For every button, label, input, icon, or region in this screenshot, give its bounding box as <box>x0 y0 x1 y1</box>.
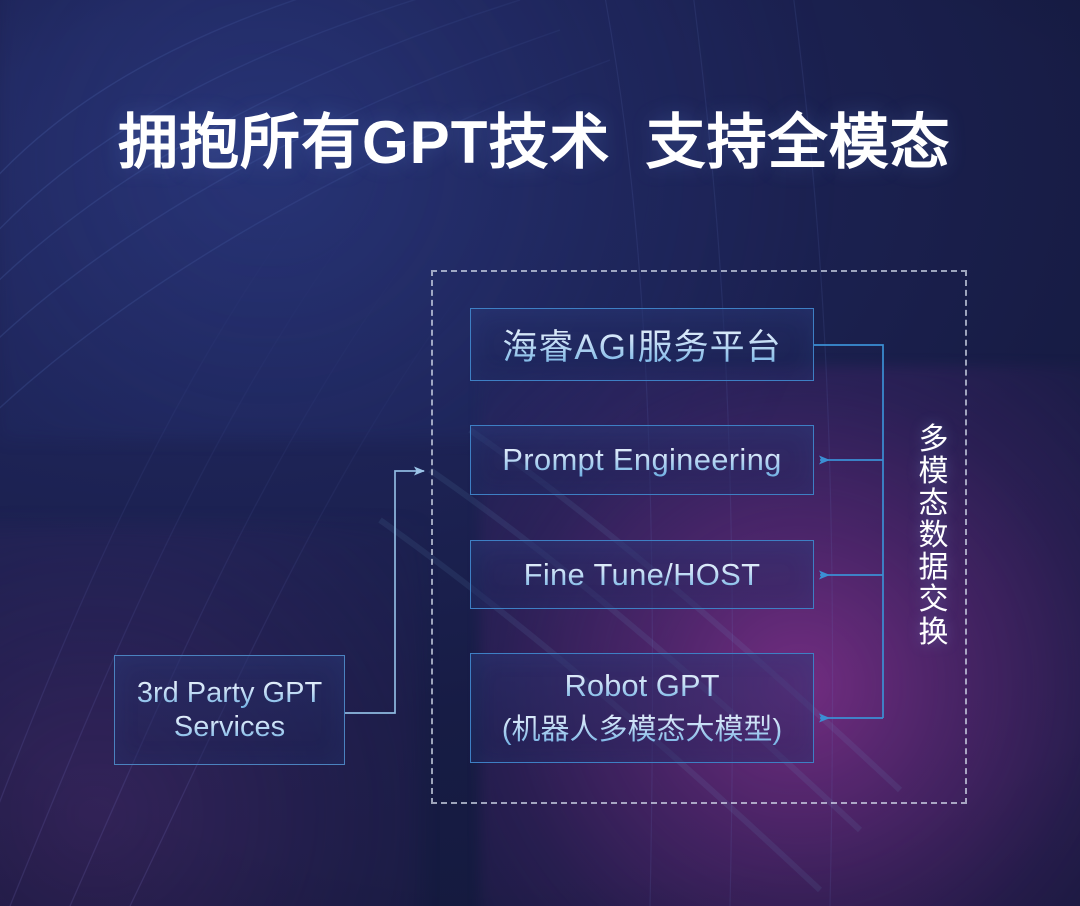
slide-canvas: 拥抱所有GPT技术 支持全模态 <box>0 0 1080 906</box>
node-label: Fine Tune/HOST <box>524 557 761 593</box>
node-label-secondary: Services <box>174 711 285 744</box>
node-third-party-gpt-services[interactable]: 3rd Party GPT Services <box>114 655 345 765</box>
side-label-char: 换 <box>912 617 956 649</box>
node-label: Prompt Engineering <box>502 442 781 478</box>
node-label: 海睿AGI服务平台 <box>502 319 781 370</box>
side-label-char: 多 <box>912 424 956 456</box>
side-label-char: 数 <box>912 520 956 552</box>
page-title: 拥抱所有GPT技术 支持全模态 <box>118 108 951 179</box>
node-haiui-agi-platform[interactable]: 海睿AGI服务平台 <box>470 308 814 381</box>
side-label-char: 模 <box>912 456 956 488</box>
node-label-primary: 3rd Party GPT <box>137 677 322 710</box>
node-label-primary: Robot GPT <box>564 668 719 704</box>
node-prompt-engineering[interactable]: Prompt Engineering <box>470 425 814 495</box>
node-fine-tune-host[interactable]: Fine Tune/HOST <box>470 540 814 609</box>
node-robot-gpt[interactable]: Robot GPT (机器人多模态大模型) <box>470 653 814 763</box>
node-label-secondary: (机器人多模态大模型) <box>502 706 782 748</box>
side-label-char: 交 <box>912 584 956 616</box>
side-label-multimodal-data-exchange: 多 模 态 数 据 交 换 <box>912 424 956 649</box>
side-label-char: 据 <box>912 552 956 584</box>
side-label-char: 态 <box>912 488 956 520</box>
